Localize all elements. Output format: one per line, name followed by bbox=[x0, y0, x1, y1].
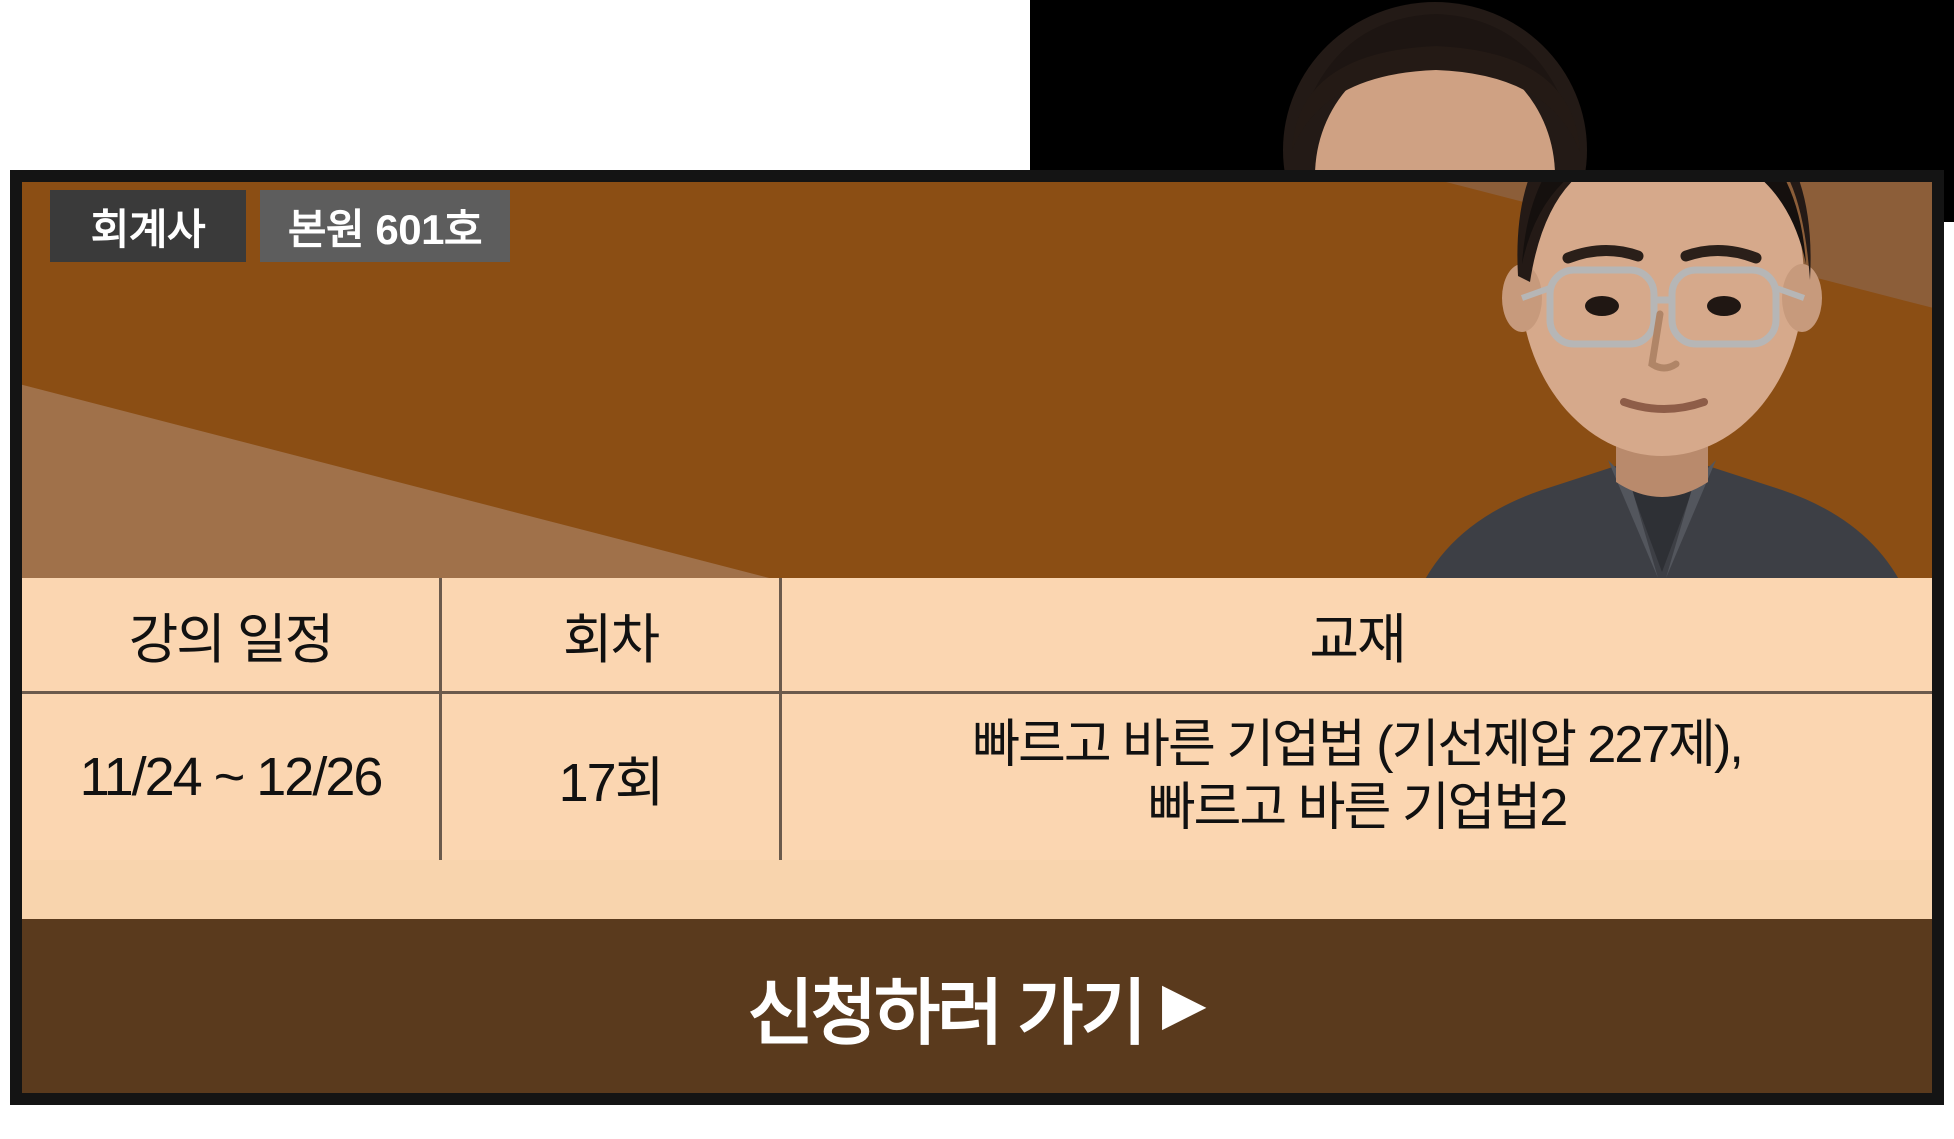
header-sessions: 회차 bbox=[442, 578, 782, 691]
promo-card-inner: 회계사 본원 601호 기업법/상법 박순욱T 객관식 기업법 bbox=[22, 182, 1932, 1093]
cell-sessions: 17회 bbox=[442, 694, 782, 860]
cell-textbook: 빠르고 바른 기업법 (기선제압 227제), 빠르고 바른 기업법2 bbox=[782, 694, 1932, 860]
badge-category: 회계사 bbox=[50, 190, 246, 262]
header-textbook: 교재 bbox=[782, 578, 1932, 691]
course-promo-banner: 회계사 본원 601호 기업법/상법 박순욱T 객관식 기업법 bbox=[0, 0, 1954, 1139]
apply-button[interactable]: 신청하러 가기 ▶ bbox=[22, 919, 1932, 1093]
promo-card: 회계사 본원 601호 기업법/상법 박순욱T 객관식 기업법 bbox=[10, 170, 1944, 1105]
header-schedule: 강의 일정 bbox=[22, 578, 442, 691]
apply-button-label: 신청하러 가기 bbox=[747, 954, 1143, 1059]
table-header-row: 강의 일정 회차 교재 bbox=[22, 578, 1932, 694]
badge-location: 본원 601호 bbox=[260, 190, 510, 262]
cell-textbook-line1: 빠르고 바른 기업법 (기선제압 227제), bbox=[972, 714, 1742, 777]
badge-group: 회계사 본원 601호 bbox=[50, 190, 510, 262]
badge-category-label: 회계사 bbox=[91, 196, 205, 257]
badge-location-label: 본원 601호 bbox=[288, 196, 482, 257]
cell-textbook-line2: 빠르고 바른 기업법2 bbox=[1148, 777, 1567, 840]
schedule-table: 강의 일정 회차 교재 11/24 ~ 12/26 17회 빠르고 바른 기업법… bbox=[22, 578, 1932, 860]
table-row: 11/24 ~ 12/26 17회 빠르고 바른 기업법 (기선제압 227제)… bbox=[22, 694, 1932, 860]
cell-schedule: 11/24 ~ 12/26 bbox=[22, 694, 442, 860]
play-arrow-icon: ▶ bbox=[1162, 975, 1207, 1033]
